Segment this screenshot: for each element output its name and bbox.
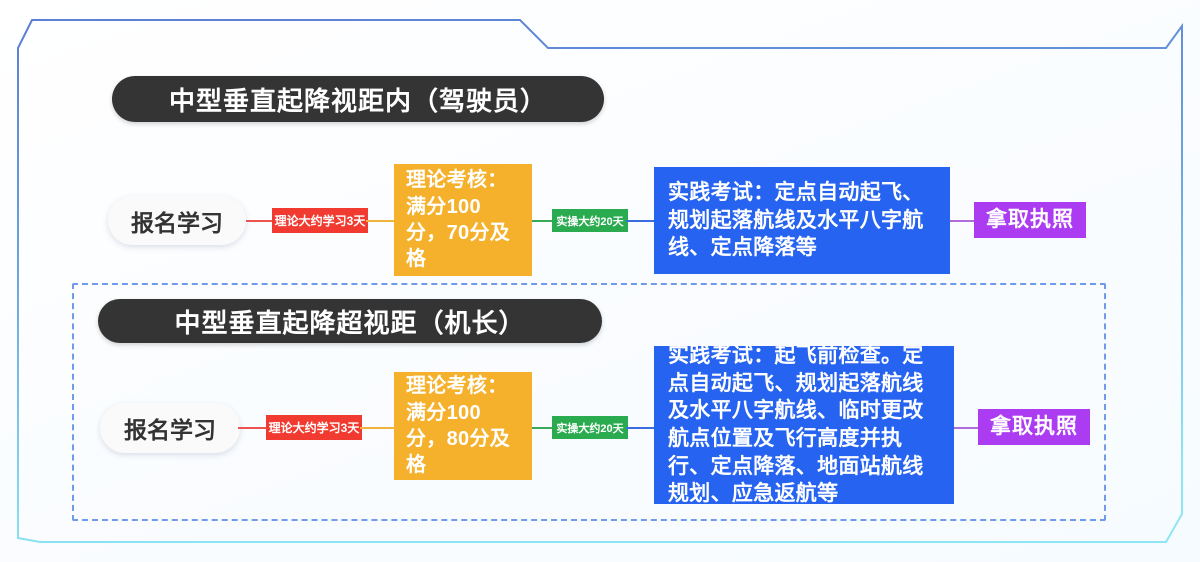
start-pill-row-2[interactable]: 报名学习 bbox=[100, 403, 240, 453]
connector-theory-to-practice-row-2 bbox=[532, 427, 554, 429]
connector-start-to-theory-row-1 bbox=[244, 220, 274, 222]
license-box-row-2[interactable]: 拿取执照 bbox=[978, 409, 1090, 445]
connector-chip-practice-duration-row-2: 实操大约20天 bbox=[552, 416, 628, 439]
connector-chip-to-theory-box-row-2 bbox=[360, 427, 396, 429]
connector-chip-theory-duration-row-1: 理论大约学习3天 bbox=[272, 208, 368, 233]
connector-chip-practice-duration-row-1: 实操大约20天 bbox=[552, 209, 628, 232]
connector-theory-to-practice-row-1 bbox=[532, 220, 554, 222]
connector-practice-to-license-row-1 bbox=[950, 220, 974, 222]
theory-box-row-2[interactable]: 理论考核：满分100分，80分及格 bbox=[394, 372, 532, 480]
theory-box-row-1[interactable]: 理论考核：满分100分，70分及格 bbox=[394, 164, 532, 276]
connector-chip-to-theory-box-row-1 bbox=[366, 220, 396, 222]
license-box-row-1[interactable]: 拿取执照 bbox=[974, 202, 1086, 238]
infographic-canvas: 中型垂直起降视距内（驾驶员） 理论大约学习3天 报名学习 理论考核：满分100分… bbox=[0, 0, 1200, 562]
connector-chip-to-practice-box-row-1 bbox=[626, 220, 654, 222]
practice-box-row-2[interactable]: 实践考试：起飞前检查。定点自动起飞、规划起落航线及水平八字航线、临时更改航点位置… bbox=[654, 346, 954, 504]
section-title-row-2: 中型垂直起降超视距（机长） bbox=[98, 299, 602, 343]
connector-chip-to-practice-box-row-2 bbox=[626, 427, 654, 429]
practice-box-row-1[interactable]: 实践考试：定点自动起飞、规划起落航线及水平八字航线、定点降落等 bbox=[654, 167, 950, 274]
start-pill-row-1[interactable]: 报名学习 bbox=[108, 196, 246, 245]
connector-practice-to-license-row-2 bbox=[954, 427, 978, 429]
connector-start-to-theory-row-2 bbox=[238, 427, 268, 429]
section-title-row-1: 中型垂直起降视距内（驾驶员） bbox=[112, 76, 604, 122]
connector-chip-theory-duration-row-2: 理论大约学习3天 bbox=[266, 415, 362, 440]
